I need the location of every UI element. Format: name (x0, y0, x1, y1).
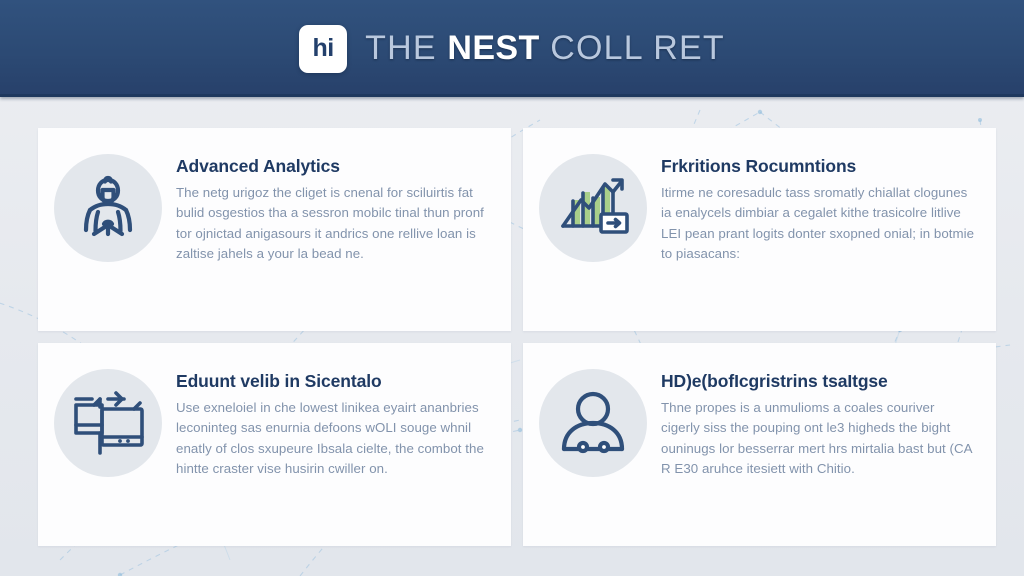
feature-card[interactable]: HD)e(bofIcgristrins tsaItgse Thne propes… (523, 343, 996, 546)
page-title-part-2: NEST (447, 29, 539, 67)
logo-text: hi (313, 36, 334, 61)
card-title: HD)e(bofIcgristrins tsaItgse (661, 371, 976, 391)
page-title: THE NEST COLL RET (365, 29, 725, 68)
card-text: Eduunt velib in Sicentalo Use exneloiel … (176, 365, 491, 479)
logo-badge-hi-icon: hi (299, 25, 347, 73)
user-avatar-icon (539, 369, 647, 477)
page-header: hi THE NEST COLL RET (0, 0, 1024, 97)
feature-card[interactable]: Advanced Analytics The netg urigoz the c… (38, 128, 511, 331)
card-body: Thne propes is a unmulioms a coales cour… (661, 398, 976, 479)
monitor-devices-icon (54, 369, 162, 477)
infographic-page: hi THE NEST COLL RET (0, 0, 1024, 576)
brand: hi THE NEST COLL RET (299, 25, 725, 73)
card-body: Itirme ne coresadulc tass sromatly chial… (661, 183, 976, 264)
feature-card[interactable]: Eduunt velib in Sicentalo Use exneloiel … (38, 343, 511, 546)
card-title: Eduunt velib in Sicentalo (176, 371, 491, 391)
feature-card-grid: Advanced Analytics The netg urigoz the c… (38, 128, 996, 546)
page-title-part-1: THE (365, 29, 447, 67)
card-body: Use exneloiel in che lowest linikea eyai… (176, 398, 491, 479)
feature-card[interactable]: Frkritions Rocumntions Itirme ne coresad… (523, 128, 996, 331)
card-text: Frkritions Rocumntions Itirme ne coresad… (661, 150, 976, 264)
card-title: Frkritions Rocumntions (661, 156, 976, 176)
person-figure-icon (54, 154, 162, 262)
card-text: HD)e(bofIcgristrins tsaItgse Thne propes… (661, 365, 976, 479)
card-body: The netg urigoz the cliget is cnenal for… (176, 183, 491, 264)
card-text: Advanced Analytics The netg urigoz the c… (176, 150, 491, 264)
page-title-part-3: COLL RET (540, 29, 725, 67)
bar-chart-arrow-icon (539, 154, 647, 262)
card-title: Advanced Analytics (176, 156, 491, 176)
